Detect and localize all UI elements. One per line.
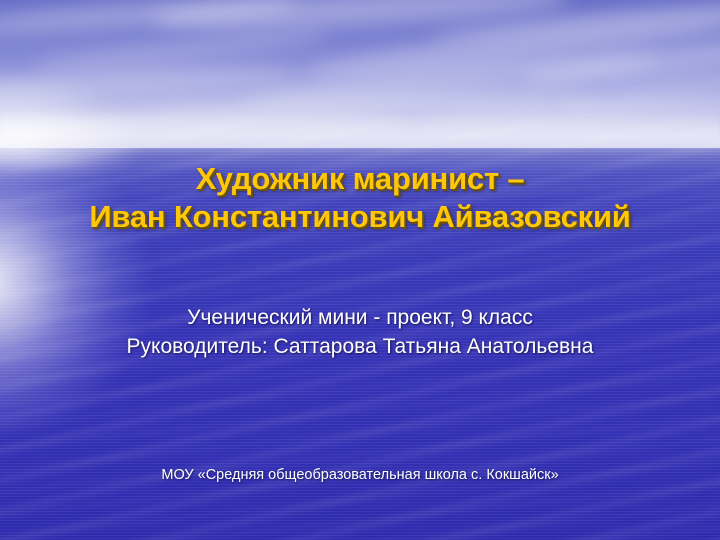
slide-footer-school-name: МОУ «Средняя общеобразовательная школа с… bbox=[0, 465, 720, 485]
slide-title-line-1: Художник маринист – bbox=[0, 160, 720, 198]
slide-subtitle-line-2: Руководитель: Саттарова Татьяна Анатолье… bbox=[0, 332, 720, 361]
slide-content: Художник маринист – Иван Константинович … bbox=[0, 0, 720, 540]
slide-title: Художник маринист – Иван Константинович … bbox=[0, 160, 720, 236]
slide-subtitle: Ученический мини - проект, 9 класс Руков… bbox=[0, 303, 720, 361]
title-slide: Художник маринист – Иван Константинович … bbox=[0, 0, 720, 540]
slide-subtitle-line-1: Ученический мини - проект, 9 класс bbox=[0, 303, 720, 332]
slide-title-line-2: Иван Константинович Айвазовский bbox=[0, 198, 720, 236]
